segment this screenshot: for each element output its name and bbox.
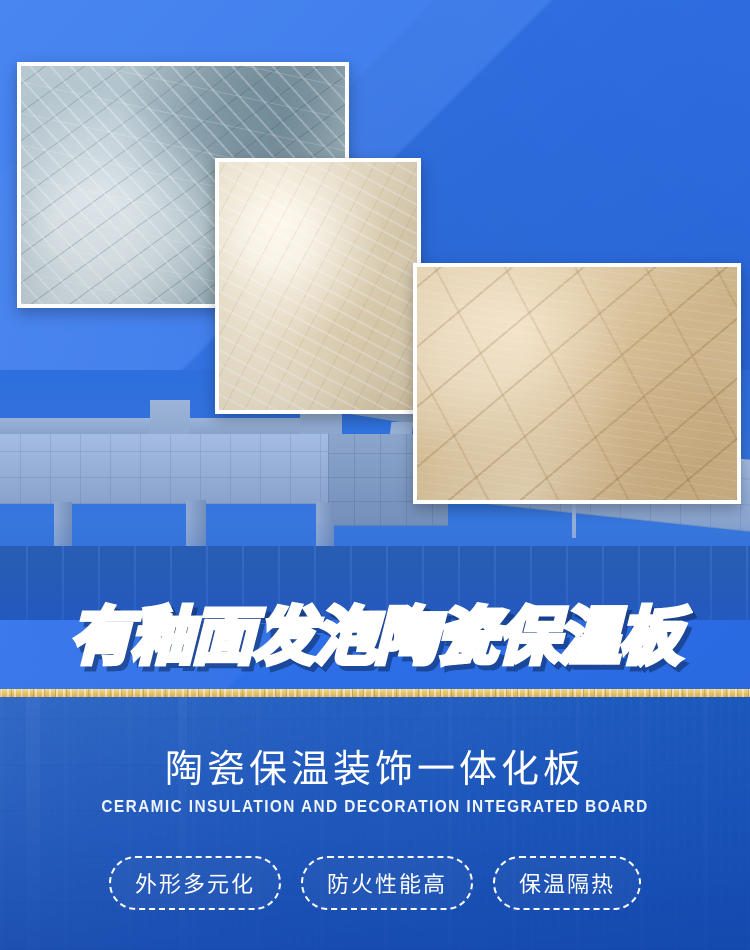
feature-pill-thermal-insulation[interactable]: 保温隔热 [493,856,641,910]
swatch-tile-tan [413,263,741,504]
feature-pill-list: 外形多元化 防火性能高 保温隔热 [0,856,750,910]
page-title: 有釉面发泡陶瓷保温板 [70,586,680,676]
lower-section [0,697,750,950]
headline-block: 有釉面发泡陶瓷保温板 [0,588,750,674]
product-banner: 有釉面发泡陶瓷保温板 陶瓷保温装饰一体化板 CERAMIC INSULATION… [0,0,750,950]
feature-pill-fire-resistance[interactable]: 防火性能高 [301,856,473,910]
feature-pill-shape-diversity[interactable]: 外形多元化 [109,856,281,910]
gold-divider [0,689,750,697]
lower-blue-overlay [0,697,750,950]
subtitle-english: CERAMIC INSULATION AND DECORATION INTEGR… [45,796,705,817]
tan-marble-texture [417,267,737,500]
subtitle-chinese: 陶瓷保温装饰一体化板 [0,738,750,793]
swatch-tile-cream [215,158,421,414]
cream-marble-texture [219,162,417,410]
